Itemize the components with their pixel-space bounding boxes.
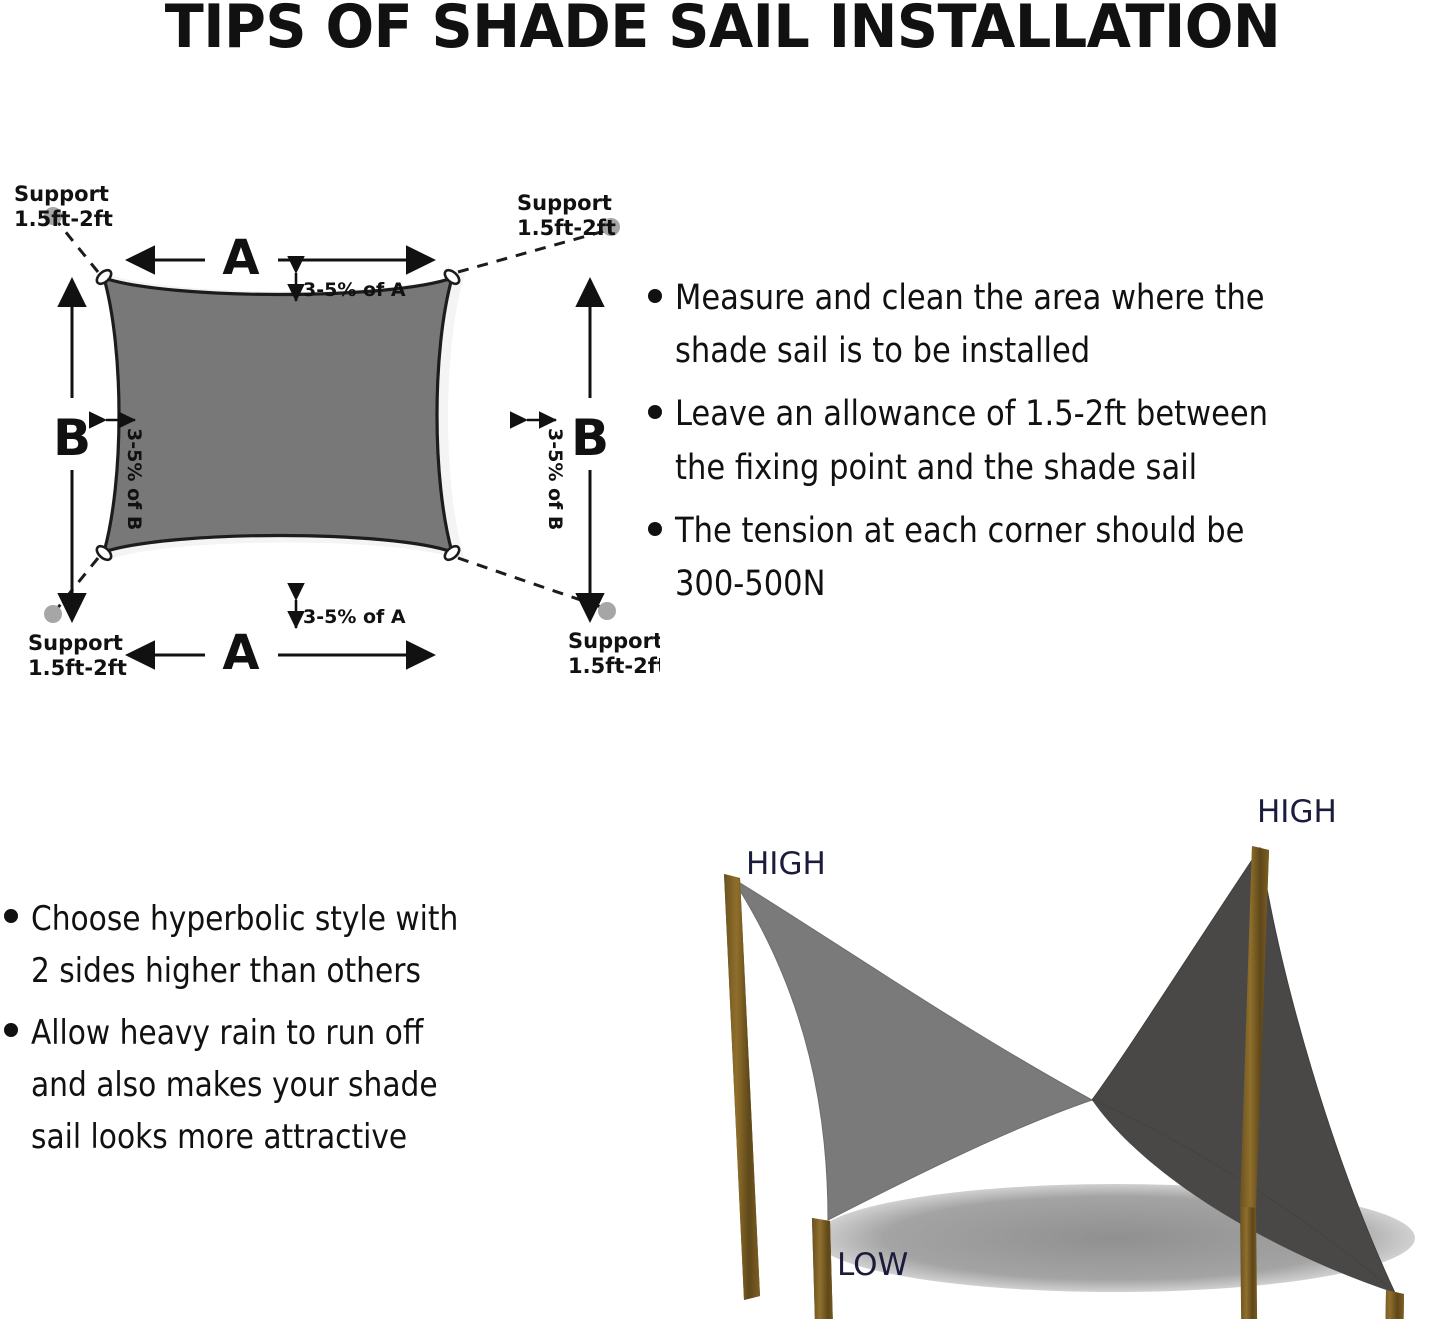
support-label-bottom-left-line2: 1.5ft-2ft [28, 656, 127, 680]
dimension-label-b-left: B [53, 409, 91, 467]
support-label-bottom-right-line2: 1.5ft-2ft [568, 654, 660, 678]
support-label-top-left-line1: Support [14, 182, 109, 206]
support-line-bottom-left [56, 558, 98, 610]
support-dot-bottom-left [44, 605, 62, 623]
post-high-right-base [1240, 1206, 1258, 1319]
label-high-left: HIGH [746, 846, 826, 882]
support-label-bottom-right-line1: Support [568, 629, 660, 653]
dimension-label-a-bottom: A [222, 625, 259, 681]
support-dot-bottom-right [598, 602, 616, 620]
list-item: Measure and clean the area where theshad… [648, 272, 1445, 378]
tip-text: Allow heavy rain to run offand also make… [31, 1007, 438, 1163]
tip-text: Measure and clean the area where theshad… [675, 272, 1265, 378]
sail-lobe-left [732, 878, 1092, 1220]
hyperbolic-sail-diagram: HIGH HIGH LOW LOW [660, 778, 1445, 1319]
dimension-label-a-top: A [222, 230, 259, 286]
list-item: Allow heavy rain to run offand also make… [4, 1007, 624, 1163]
bullet-dot-icon [4, 909, 18, 923]
list-item: The tension at each corner should be300-… [648, 505, 1445, 611]
tip-text: Leave an allowance of 1.5-2ft betweenthe… [675, 388, 1268, 494]
hyperbolic-style-list: Choose hyperbolic style with2 sides high… [4, 893, 624, 1173]
support-label-top-right-line2: 1.5ft-2ft [517, 216, 616, 240]
dimension-label-b-right: B [571, 409, 609, 467]
bullet-dot-icon [648, 405, 662, 419]
tip-text: Choose hyperbolic style with2 sides high… [31, 893, 458, 997]
shade-sail-shape [104, 278, 452, 552]
support-label-top-right-line1: Support [517, 191, 612, 215]
bullet-dot-icon [648, 522, 662, 536]
post-high-left-front [724, 874, 760, 1300]
installation-tips-list: Measure and clean the area where theshad… [648, 272, 1445, 621]
sag-label-bottom: 3-5% of A [303, 606, 406, 628]
page-title: TIPS OF SHADE SAIL INSTALLATION [0, 0, 1445, 59]
label-high-right: HIGH [1257, 794, 1337, 830]
sag-label-left: 3-5% of B [123, 428, 145, 530]
rectangular-sail-diagram: Support 1.5ft-2ft Support 1.5ft-2ft Supp… [0, 150, 660, 750]
support-label-bottom-left-line1: Support [28, 631, 123, 655]
sag-label-top: 3-5% of A [303, 279, 406, 301]
bullet-dot-icon [648, 289, 662, 303]
label-low-left: LOW [837, 1247, 908, 1283]
list-item: Leave an allowance of 1.5-2ft betweenthe… [648, 388, 1445, 494]
support-line-bottom-right [458, 558, 604, 608]
post-low-right-front [1382, 1290, 1404, 1319]
sag-label-right: 3-5% of B [544, 428, 566, 530]
tip-text: The tension at each corner should be300-… [675, 505, 1244, 611]
support-label-top-left-line2: 1.5ft-2ft [14, 207, 113, 231]
list-item: Choose hyperbolic style with2 sides high… [4, 893, 624, 997]
bullet-dot-icon [4, 1023, 18, 1037]
